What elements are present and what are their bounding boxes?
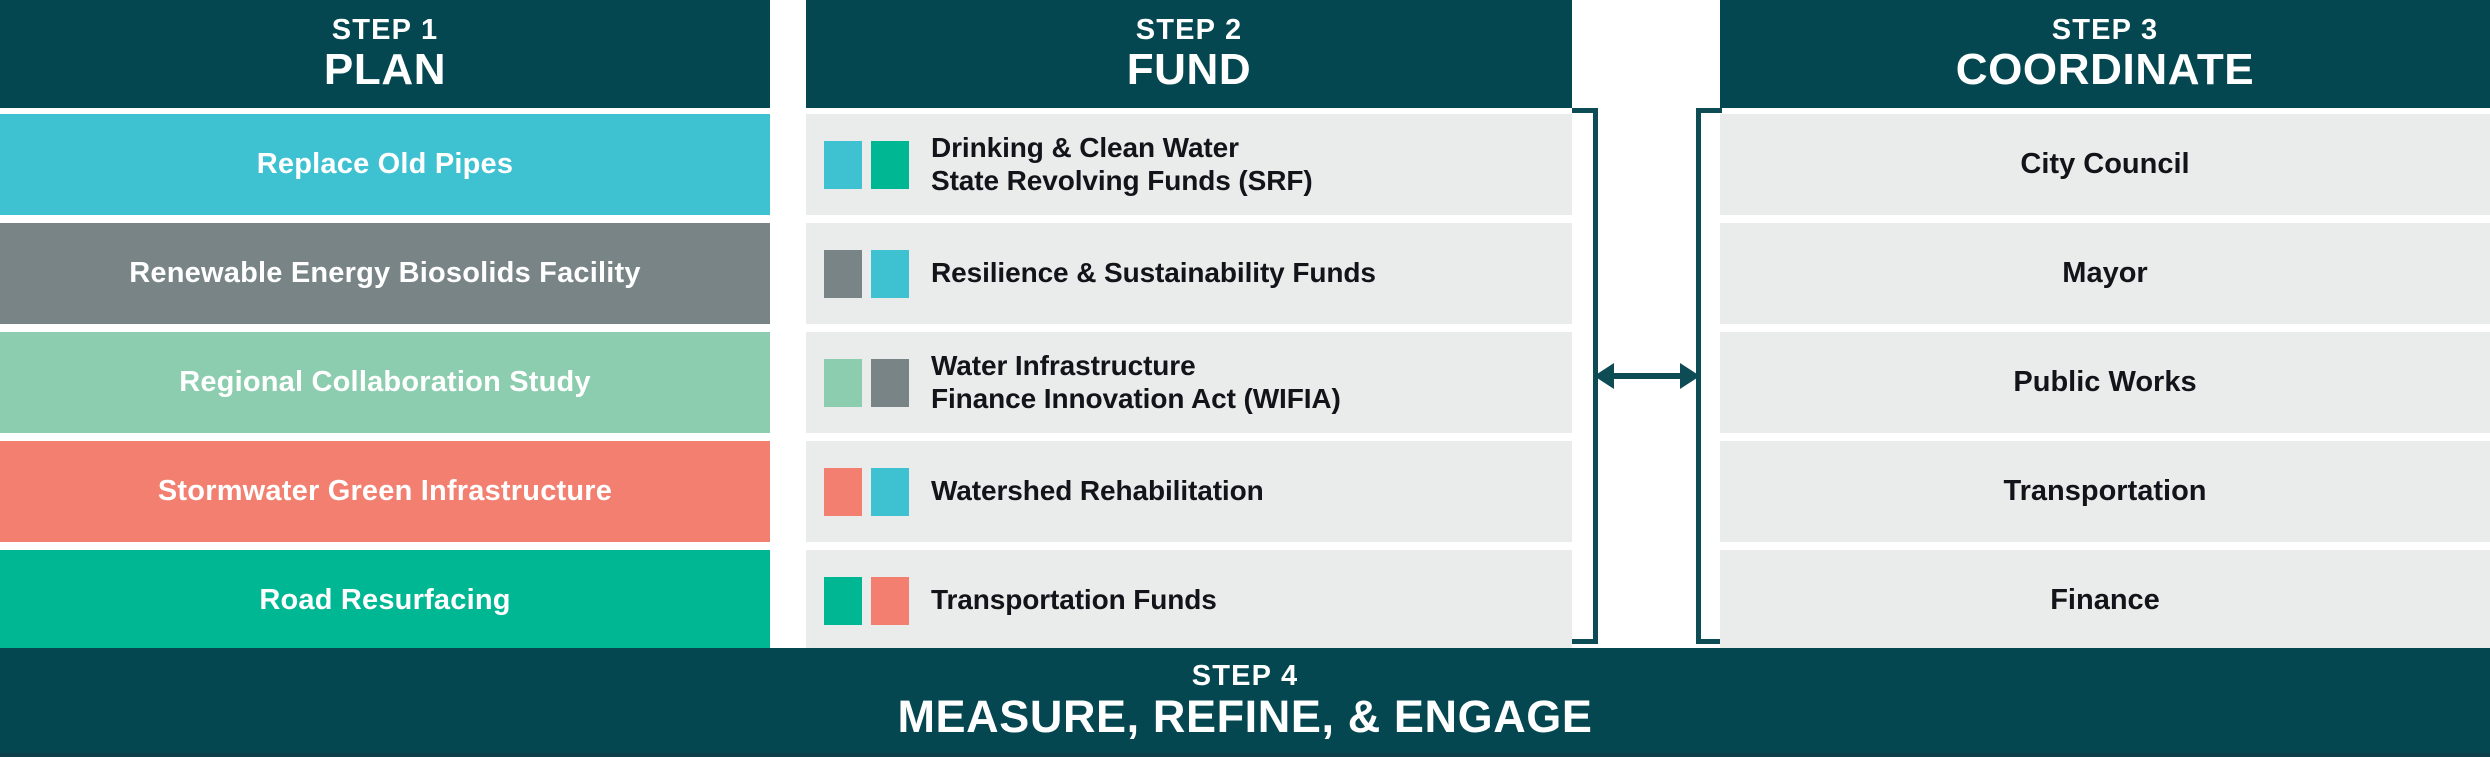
color-swatch-icon [871, 468, 909, 516]
coordinate-item-label: Mayor [2062, 257, 2147, 290]
plan-header: STEP 1 PLAN [0, 0, 770, 108]
plan-item-label: Replace Old Pipes [257, 148, 513, 181]
bottom-rule [0, 753, 2490, 757]
color-swatch-icon [824, 577, 862, 625]
fund-item-swatches [824, 468, 909, 516]
fund-coordinate-connector [1572, 108, 1722, 644]
plan-item-label: Stormwater Green Infrastructure [158, 475, 612, 508]
fund-item-swatches [824, 359, 909, 407]
plan-item-label: Road Resurfacing [259, 584, 510, 617]
coordinate-step-label: STEP 3 [2052, 15, 2159, 45]
plan-item[interactable]: Regional Collaboration Study [0, 332, 770, 433]
coordinate-item-label: City Council [2020, 148, 2189, 181]
coordinate-item-label: Finance [2050, 584, 2160, 617]
coordinate-title: COORDINATE [1956, 47, 2255, 93]
color-swatch-icon [871, 577, 909, 625]
fund-item-swatches [824, 141, 909, 189]
fund-item-label: Transportation Funds [931, 584, 1217, 617]
color-swatch-icon [871, 359, 909, 407]
plan-step-label: STEP 1 [332, 15, 439, 45]
coordinate-item[interactable]: Mayor [1720, 223, 2490, 324]
coordinate-item[interactable]: Transportation [1720, 441, 2490, 542]
fund-item[interactable]: Resilience & Sustainability Funds [806, 223, 1572, 324]
fund-header: STEP 2 FUND [806, 0, 1572, 108]
color-swatch-icon [871, 141, 909, 189]
color-swatch-icon [824, 141, 862, 189]
color-swatch-icon [824, 359, 862, 407]
fund-item-swatches [824, 250, 909, 298]
fund-step-label: STEP 2 [1136, 15, 1243, 45]
color-swatch-icon [871, 250, 909, 298]
column-coordinate: STEP 3 COORDINATE City CouncilMayorPubli… [1720, 0, 2490, 644]
fund-item-label: Water Infrastructure Finance Innovation … [931, 350, 1341, 416]
fund-item-label: Drinking & Clean Water State Revolving F… [931, 132, 1313, 198]
fund-item-label: Resilience & Sustainability Funds [931, 257, 1376, 290]
step4-banner: STEP 4 MEASURE, REFINE, & ENGAGE [0, 648, 2490, 753]
fund-item[interactable]: Watershed Rehabilitation [806, 441, 1572, 542]
coordinate-item-label: Transportation [2003, 475, 2206, 508]
coordinate-item[interactable]: City Council [1720, 114, 2490, 215]
plan-item[interactable]: Renewable Energy Biosolids Facility [0, 223, 770, 324]
color-swatch-icon [824, 250, 862, 298]
step4-step-label: STEP 4 [1192, 661, 1299, 691]
fund-item[interactable]: Water Infrastructure Finance Innovation … [806, 332, 1572, 433]
step4-title: MEASURE, REFINE, & ENGAGE [897, 693, 1592, 740]
column-plan: STEP 1 PLAN Replace Old PipesRenewable E… [0, 0, 770, 644]
plan-title: PLAN [324, 47, 446, 93]
fund-item[interactable]: Drinking & Clean Water State Revolving F… [806, 114, 1572, 215]
coordinate-item-label: Public Works [2013, 366, 2196, 399]
plan-item-label: Renewable Energy Biosolids Facility [129, 257, 640, 290]
double-headed-arrow-icon [1594, 354, 1700, 398]
fund-item[interactable]: Transportation Funds [806, 550, 1572, 651]
plan-item[interactable]: Replace Old Pipes [0, 114, 770, 215]
fund-title: FUND [1127, 47, 1252, 93]
plan-item[interactable]: Stormwater Green Infrastructure [0, 441, 770, 542]
plan-item-label: Regional Collaboration Study [179, 366, 591, 399]
fund-item-label: Watershed Rehabilitation [931, 475, 1264, 508]
fund-item-swatches [824, 577, 909, 625]
coordinate-item[interactable]: Public Works [1720, 332, 2490, 433]
plan-item[interactable]: Road Resurfacing [0, 550, 770, 651]
coordinate-header: STEP 3 COORDINATE [1720, 0, 2490, 108]
color-swatch-icon [824, 468, 862, 516]
coordinate-item[interactable]: Finance [1720, 550, 2490, 651]
infographic-root: STEP 1 PLAN Replace Old PipesRenewable E… [0, 0, 2490, 757]
column-fund: STEP 2 FUND Drinking & Clean Water State… [806, 0, 1572, 644]
